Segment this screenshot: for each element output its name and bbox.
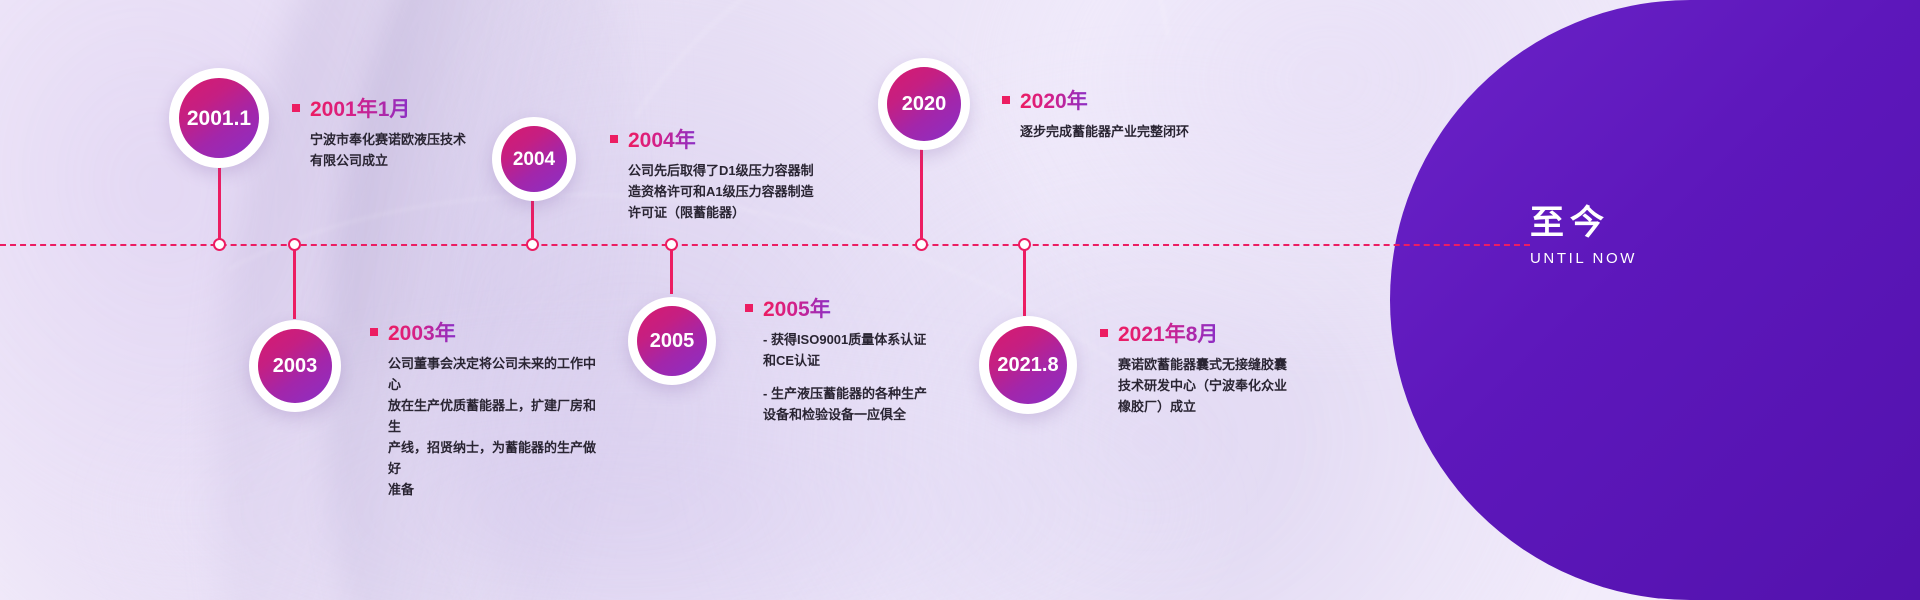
square-bullet-icon (1100, 329, 1108, 337)
milestone-entry-2003: 2003年 公司董事会决定将公司未来的工作中心 放在生产优质蓄能器上，扩建厂房和… (370, 317, 600, 500)
milestone-entry-2020: 2020年 逐步完成蓄能器产业完整闭环 (1002, 85, 1262, 142)
axis-node-2001-1 (213, 238, 226, 251)
milestone-bubble-label: 2021.8 (989, 326, 1067, 404)
stem-2020 (920, 148, 923, 246)
milestone-bubble-label: 2001.1 (179, 78, 259, 158)
milestone-bubble-2004[interactable]: 2004 (492, 117, 576, 201)
milestone-body-text: - 生产液压蓄能器的各种生产 设备和检验设备一应俱全 (763, 383, 955, 425)
milestone-bubble-2001-1[interactable]: 2001.1 (169, 68, 269, 168)
milestone-heading: 2021年8月 (1100, 318, 1315, 348)
until-now-label-cn: 至今 (1530, 205, 1637, 242)
milestone-entry-2005: 2005年 - 获得ISO9001质量体系认证 和CE认证 - 生产液压蓄能器的… (745, 293, 955, 425)
milestone-body-text: 公司董事会决定将公司未来的工作中心 放在生产优质蓄能器上，扩建厂房和生 产线，招… (388, 353, 600, 500)
milestone-heading: 2003年 (370, 317, 600, 347)
milestone-bubble-label: 2005 (637, 306, 707, 376)
milestone-bubble-2005[interactable]: 2005 (628, 297, 716, 385)
milestone-bubble-label: 2004 (501, 126, 567, 192)
milestone-heading: 2004年 (610, 124, 830, 154)
until-now-label-en: UNTIL NOW (1530, 250, 1637, 267)
milestone-body-text: 公司先后取得了D1级压力容器制 造资格许可和A1级压力容器制造 许可证（限蓄能器… (628, 160, 830, 223)
milestone-year-label: 2020年 (1020, 85, 1088, 115)
timeline-infographic: 至今 UNTIL NOW 2001.1 2003 2004 2005 2020 … (0, 0, 1920, 600)
milestone-body-text: 逐步完成蓄能器产业完整闭环 (1020, 121, 1262, 142)
stem-2021-8 (1023, 244, 1026, 316)
milestone-year-label: 2004年 (628, 124, 696, 154)
milestone-entry-2001-1: 2001年1月 宁波市奉化赛诺欧液压技术 有限公司成立 (292, 93, 472, 171)
axis-node-2005 (665, 238, 678, 251)
milestone-entry-2021-8: 2021年8月 赛诺欧蓄能器囊式无接缝胶囊 技术研发中心（宁波奉化众业 橡胶厂）… (1100, 318, 1315, 417)
axis-node-2020 (915, 238, 928, 251)
timeline-axis (0, 244, 1530, 246)
milestone-bubble-2020[interactable]: 2020 (878, 58, 970, 150)
milestone-year-label: 2001年1月 (310, 93, 410, 123)
milestone-body-text: - 获得ISO9001质量体系认证 和CE认证 (763, 329, 955, 371)
square-bullet-icon (610, 135, 618, 143)
milestone-heading: 2001年1月 (292, 93, 472, 123)
square-bullet-icon (745, 304, 753, 312)
milestone-bubble-2021-8[interactable]: 2021.8 (979, 316, 1077, 414)
axis-node-2003 (288, 238, 301, 251)
axis-node-2021-8 (1018, 238, 1031, 251)
stem-2003 (293, 244, 296, 319)
axis-node-2004 (526, 238, 539, 251)
milestone-entry-2004: 2004年 公司先后取得了D1级压力容器制 造资格许可和A1级压力容器制造 许可… (610, 124, 830, 223)
milestone-bubble-2003[interactable]: 2003 (249, 320, 341, 412)
milestone-year-label: 2003年 (388, 317, 456, 347)
milestone-heading: 2020年 (1002, 85, 1262, 115)
milestone-year-label: 2005年 (763, 293, 831, 323)
square-bullet-icon (370, 328, 378, 336)
milestone-body-text: 赛诺欧蓄能器囊式无接缝胶囊 技术研发中心（宁波奉化众业 橡胶厂）成立 (1118, 354, 1315, 417)
stem-2001-1 (218, 165, 221, 245)
stem-2005 (670, 244, 673, 294)
square-bullet-icon (292, 104, 300, 112)
until-now-text-group: 至今 UNTIL NOW (1530, 205, 1637, 267)
milestone-bubble-label: 2003 (258, 329, 332, 403)
square-bullet-icon (1002, 96, 1010, 104)
milestone-bubble-label: 2020 (887, 67, 961, 141)
milestone-heading: 2005年 (745, 293, 955, 323)
milestone-year-label: 2021年8月 (1118, 318, 1218, 348)
milestone-body-text: 宁波市奉化赛诺欧液压技术 有限公司成立 (310, 129, 472, 171)
